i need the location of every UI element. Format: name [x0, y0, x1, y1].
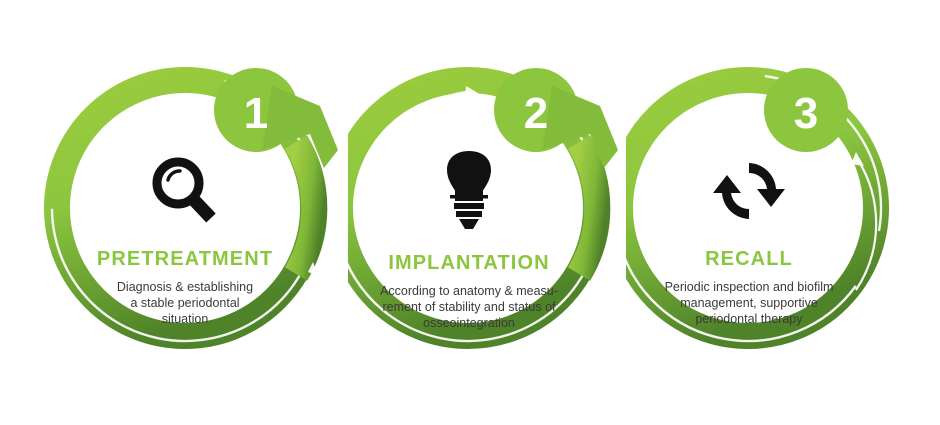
step-3-ring-graphic: 3 [0, 0, 940, 425]
infographic-canvas: 1 PRETREATMENT Diagnosis & establishing … [0, 0, 940, 425]
step-3[interactable]: 3 RECALL Periodic inspection and biofilm… [0, 0, 940, 425]
step-3-number: 3 [794, 89, 818, 138]
